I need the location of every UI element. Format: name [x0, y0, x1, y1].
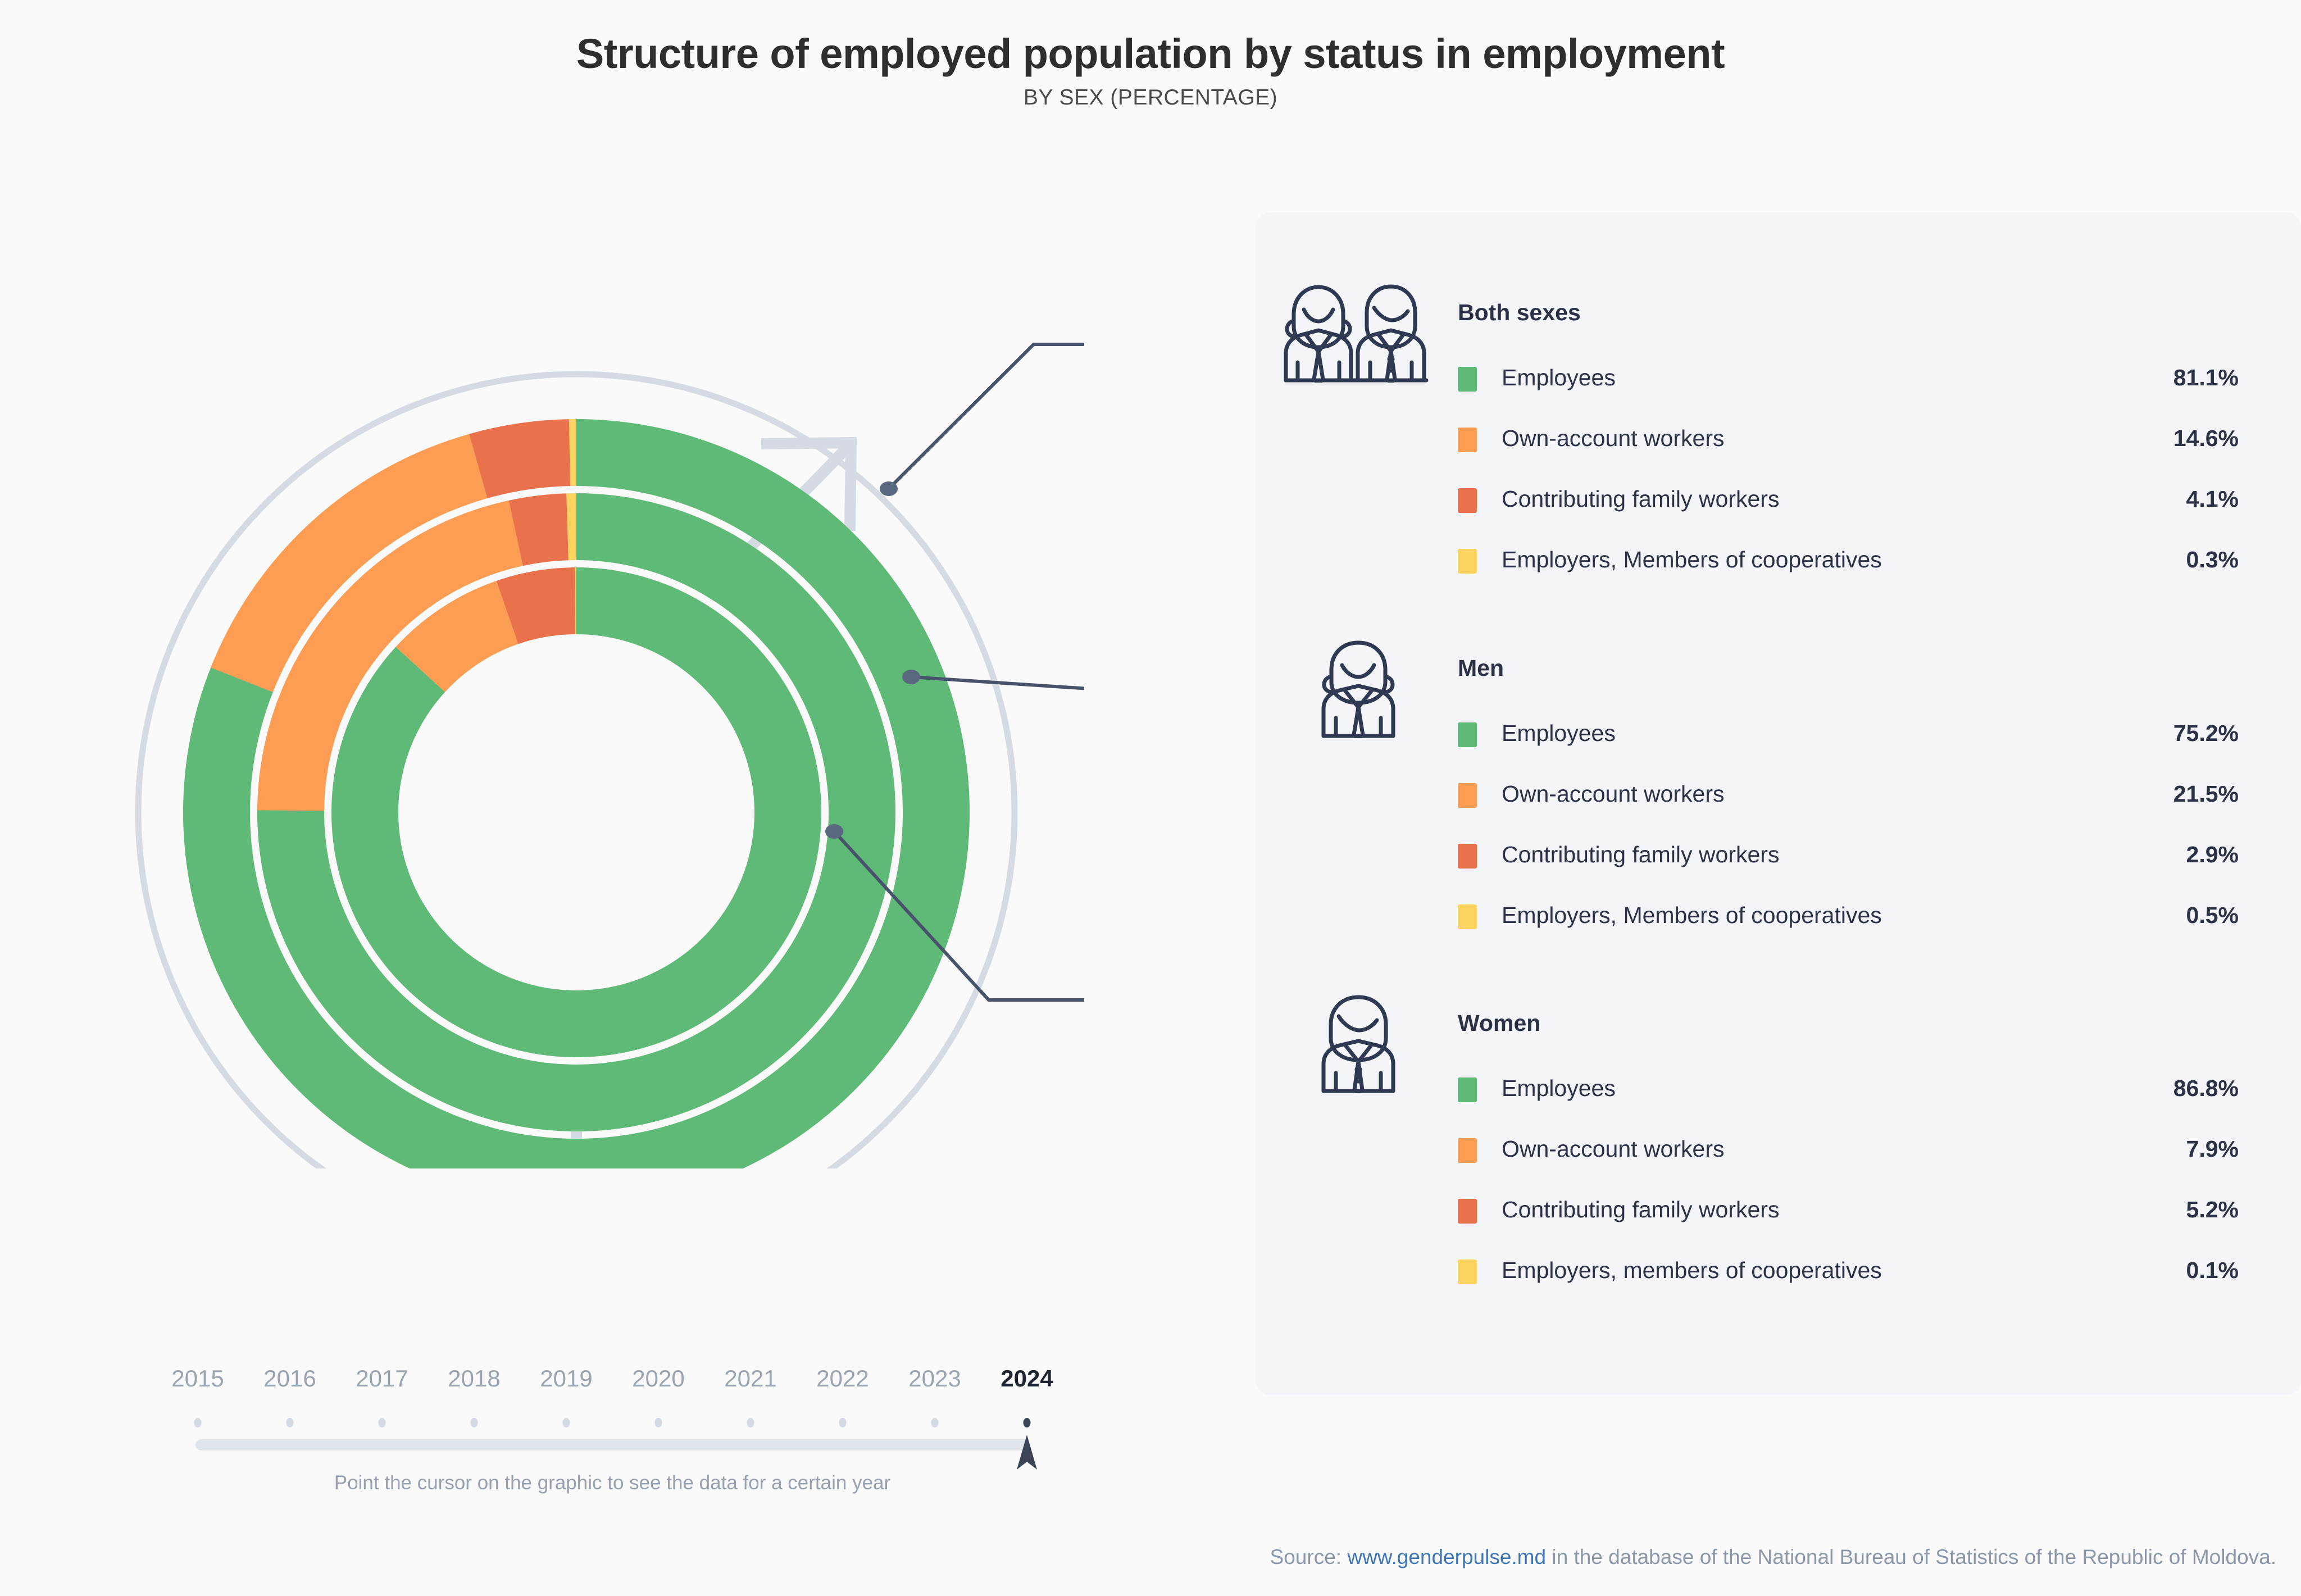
- legend-value: 0.3%: [2186, 547, 2239, 573]
- legend-row[interactable]: Contributing family workers 4.1%: [1458, 477, 2255, 538]
- legend-label: Employees: [1502, 1075, 1616, 1102]
- donut-segment[interactable]: [469, 419, 570, 498]
- legend-rows-both-sexes: Employees 81.1% Own-account workers 14.6…: [1458, 356, 2255, 598]
- year-label-2022[interactable]: 2022: [816, 1365, 868, 1392]
- legend-value: 75.2%: [2173, 720, 2239, 747]
- year-tick-2016[interactable]: [287, 1418, 294, 1427]
- year-tick-2015[interactable]: [194, 1418, 202, 1427]
- year-label-2019[interactable]: 2019: [540, 1365, 592, 1392]
- legend-label: Own-account workers: [1502, 425, 1724, 452]
- source-footer: Source: www.genderpulse.md in the databa…: [1270, 1545, 2276, 1569]
- legend-label: Employers, Members of cooperatives: [1502, 902, 1882, 929]
- page-subtitle: BY SEX (PERCENTAGE): [0, 76, 2301, 110]
- legend-label: Employees: [1502, 365, 1616, 391]
- chart-header: Structure of employed population by stat…: [0, 0, 2301, 110]
- legend-row[interactable]: Employers, members of cooperatives 0.1%: [1458, 1248, 2255, 1309]
- year-label-2018[interactable]: 2018: [448, 1365, 500, 1392]
- legend-swatch-employees: [1458, 722, 1477, 747]
- legend-rows-men: Employees 75.2% Own-account workers 21.5…: [1458, 711, 2255, 954]
- legend-rows-women: Employees 86.8% Own-account workers 7.9%…: [1458, 1066, 2255, 1309]
- legend-group-title: Men: [1458, 655, 1504, 681]
- woman-icon: [1316, 989, 1400, 1096]
- legend-label: Employees: [1502, 720, 1616, 747]
- leader-line-both-sexes: [889, 344, 1084, 489]
- legend-swatch-contributing-family-workers: [1458, 844, 1477, 869]
- legend-value: 81.1%: [2173, 365, 2239, 391]
- legend-row[interactable]: Employees 86.8%: [1458, 1066, 2255, 1127]
- slider-track[interactable]: [195, 1439, 1029, 1451]
- leader-dot-both-sexes: [880, 481, 898, 496]
- legend-row[interactable]: Employees 75.2%: [1458, 711, 2255, 772]
- year-tick-2020[interactable]: [655, 1418, 662, 1427]
- legend-swatch-contributing-family-workers: [1458, 488, 1477, 513]
- donut-ring-women[interactable]: [331, 567, 821, 1057]
- year-label-2023[interactable]: 2023: [908, 1365, 961, 1392]
- slider-handle-icon: [1014, 1431, 1040, 1473]
- legend-row[interactable]: Employers, Members of cooperatives 0.5%: [1458, 893, 2255, 954]
- legend-row[interactable]: Contributing family workers 2.9%: [1458, 833, 2255, 893]
- year-label-2021[interactable]: 2021: [724, 1365, 776, 1392]
- year-label-2015[interactable]: 2015: [171, 1365, 224, 1392]
- legend-value: 86.8%: [2173, 1075, 2239, 1102]
- year-label-2020[interactable]: 2020: [632, 1365, 684, 1392]
- legend-swatch-employers: [1458, 904, 1477, 929]
- legend-swatch-contributing-family-workers: [1458, 1199, 1477, 1224]
- donut-segment[interactable]: [569, 419, 576, 486]
- leader-dot-women: [825, 824, 843, 839]
- legend-label: Employers, Members of cooperatives: [1502, 547, 1882, 573]
- year-tick-2023[interactable]: [931, 1418, 939, 1427]
- timeline-hint: Point the cursor on the graphic to see t…: [185, 1472, 1039, 1494]
- legend-value: 0.5%: [2186, 902, 2239, 929]
- legend-swatch-employees: [1458, 367, 1477, 392]
- leader-dot-men: [902, 670, 920, 684]
- donut-rings[interactable]: [183, 419, 970, 1168]
- legend-label: Own-account workers: [1502, 1136, 1724, 1162]
- legend-value: 2.9%: [2186, 842, 2239, 868]
- donut-chart-svg: [129, 213, 1084, 1168]
- legend-label: Own-account workers: [1502, 781, 1724, 807]
- legend-value: 14.6%: [2173, 425, 2239, 452]
- legend-row[interactable]: Own-account workers 7.9%: [1458, 1127, 2255, 1188]
- legend-swatch-own-account-workers: [1458, 1138, 1477, 1163]
- year-tick-2019[interactable]: [563, 1418, 570, 1427]
- page-title: Structure of employed population by stat…: [0, 0, 2301, 76]
- donut-chart[interactable]: [129, 213, 1084, 1168]
- legend-value: 7.9%: [2186, 1136, 2239, 1162]
- source-suffix: in the database of the National Bureau o…: [1546, 1545, 2276, 1568]
- legend-row[interactable]: Own-account workers 14.6%: [1458, 416, 2255, 477]
- year-slider[interactable]: [185, 1416, 1039, 1461]
- legend-value: 5.2%: [2186, 1197, 2239, 1223]
- year-tick-2024[interactable]: [1024, 1418, 1031, 1427]
- year-tick-2021[interactable]: [747, 1418, 754, 1427]
- legend-group-title: Women: [1458, 1010, 1540, 1036]
- legend-swatch-employees: [1458, 1077, 1477, 1102]
- year-tick-2017[interactable]: [379, 1418, 386, 1427]
- man-icon: [1316, 634, 1400, 741]
- year-labels: 2015201620172018201920202021202220232024: [185, 1365, 1039, 1397]
- legend-label: Contributing family workers: [1502, 1197, 1779, 1223]
- legend-value: 21.5%: [2173, 781, 2239, 807]
- legend-swatch-own-account-workers: [1458, 428, 1477, 452]
- legend-swatch-employers: [1458, 549, 1477, 574]
- year-label-2024[interactable]: 2024: [1001, 1365, 1053, 1392]
- two-persons-icon: [1283, 279, 1430, 385]
- legend-value: 0.1%: [2186, 1257, 2239, 1284]
- legend-row[interactable]: Employees 81.1%: [1458, 356, 2255, 416]
- source-prefix: Source:: [1270, 1545, 1348, 1568]
- legend-row[interactable]: Contributing family workers 5.2%: [1458, 1188, 2255, 1248]
- year-tick-2022[interactable]: [839, 1418, 847, 1427]
- legend-group-title: Both sexes: [1458, 299, 1581, 326]
- slider-handle[interactable]: [1014, 1431, 1040, 1476]
- legend-label: Contributing family workers: [1502, 842, 1779, 868]
- legend-panel: Both sexes Employees 81.1% Own-account w…: [1256, 212, 2301, 1395]
- legend-row[interactable]: Own-account workers 21.5%: [1458, 772, 2255, 833]
- legend-label: Contributing family workers: [1502, 486, 1779, 512]
- year-timeline[interactable]: 2015201620172018201920202021202220232024…: [185, 1365, 1039, 1494]
- legend-row[interactable]: Employers, Members of cooperatives 0.3%: [1458, 538, 2255, 598]
- year-label-2017[interactable]: 2017: [356, 1365, 408, 1392]
- year-tick-2018[interactable]: [471, 1418, 478, 1427]
- legend-swatch-employers: [1458, 1259, 1477, 1284]
- legend-value: 4.1%: [2186, 486, 2239, 512]
- legend-swatch-own-account-workers: [1458, 783, 1477, 808]
- legend-label: Employers, members of cooperatives: [1502, 1257, 1882, 1284]
- year-label-2016[interactable]: 2016: [263, 1365, 316, 1392]
- source-link[interactable]: www.genderpulse.md: [1347, 1545, 1546, 1568]
